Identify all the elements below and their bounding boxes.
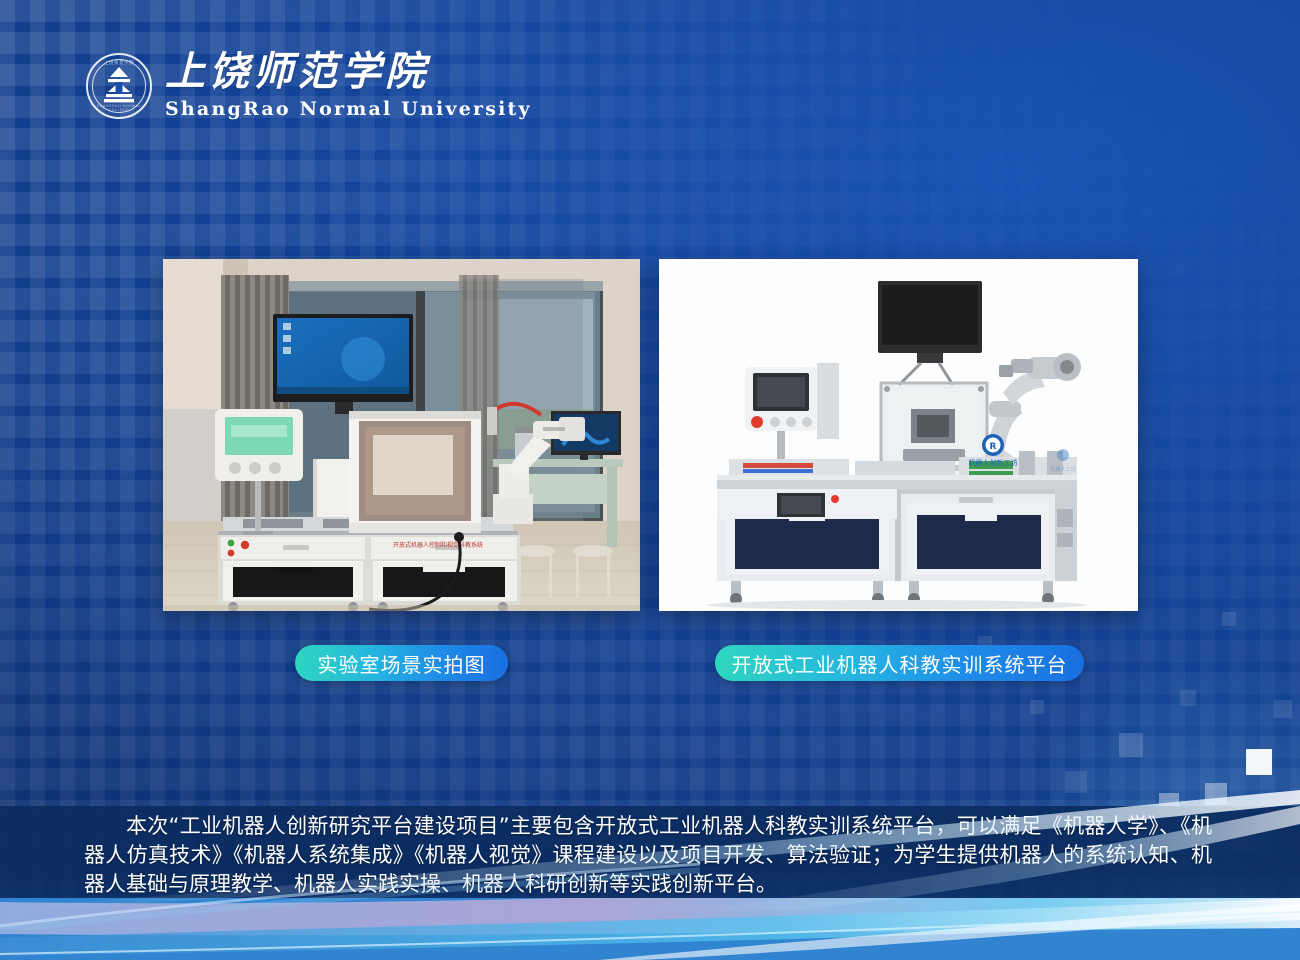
decor-square: [1222, 612, 1236, 626]
decor-square: [1205, 783, 1227, 805]
university-name-cn: 上饶师范学院: [165, 52, 532, 92]
decor-square: [1274, 700, 1292, 718]
svg-text:机器人创新工坊: 机器人创新工坊: [969, 458, 1018, 467]
university-wordmark: 上饶师范学院 ShangRao Normal University: [165, 52, 532, 120]
photo-lab-scene[interactable]: 开放式机器人控制和视觉科教系统: [163, 259, 640, 611]
caption-product-platform[interactable]: 开放式工业机器人科教实训系统平台: [715, 645, 1084, 681]
caption-lab-scene[interactable]: 实验室场景实拍图: [295, 645, 508, 681]
decor-square: [1030, 700, 1044, 714]
svg-text:R: R: [990, 442, 997, 452]
slide-canvas: 上饶师范学院 SHANGRAO NORMAL COLLEGE 上饶师范学院 Sh…: [0, 0, 1300, 960]
equipment-cabinets: [717, 489, 1077, 581]
crest-pagoda-icon: [102, 66, 136, 106]
decor-square: [1180, 690, 1196, 706]
body-paragraph: 本次“工业机器人创新研究平台建设项目”主要包含开放式工业机器人科教实训系统平台，…: [84, 812, 1212, 899]
product-render-illustration: R 机器人创新工坊 机器人工坊: [659, 259, 1138, 611]
decor-square: [1065, 771, 1087, 793]
svg-text:开放式机器人控制和视觉科教系统: 开放式机器人控制和视觉科教系统: [393, 541, 483, 549]
university-logo: 上饶师范学院 SHANGRAO NORMAL COLLEGE 上饶师范学院 Sh…: [86, 52, 532, 120]
bottom-light-ribbons: [0, 898, 1300, 960]
photo-product-render[interactable]: R 机器人创新工坊 机器人工坊: [659, 259, 1138, 611]
body-text-block: 本次“工业机器人创新研究平台建设项目”主要包含开放式工业机器人科教实训系统平台，…: [84, 812, 1212, 899]
ribbon-svg: [0, 898, 1300, 960]
work-enclosure: [349, 411, 481, 533]
decor-square: [1119, 733, 1143, 757]
lab-scene-illustration: 开放式机器人控制和视觉科教系统: [163, 259, 640, 611]
decor-square: [1246, 749, 1272, 775]
university-name-en: ShangRao Normal University: [165, 98, 532, 120]
equipment-cabinets: 开放式机器人控制和视觉科教系统: [218, 535, 520, 611]
svg-text:机器人工坊: 机器人工坊: [1050, 466, 1075, 473]
wall-monitor: [273, 314, 413, 414]
university-crest-icon: 上饶师范学院 SHANGRAO NORMAL COLLEGE: [86, 53, 152, 119]
